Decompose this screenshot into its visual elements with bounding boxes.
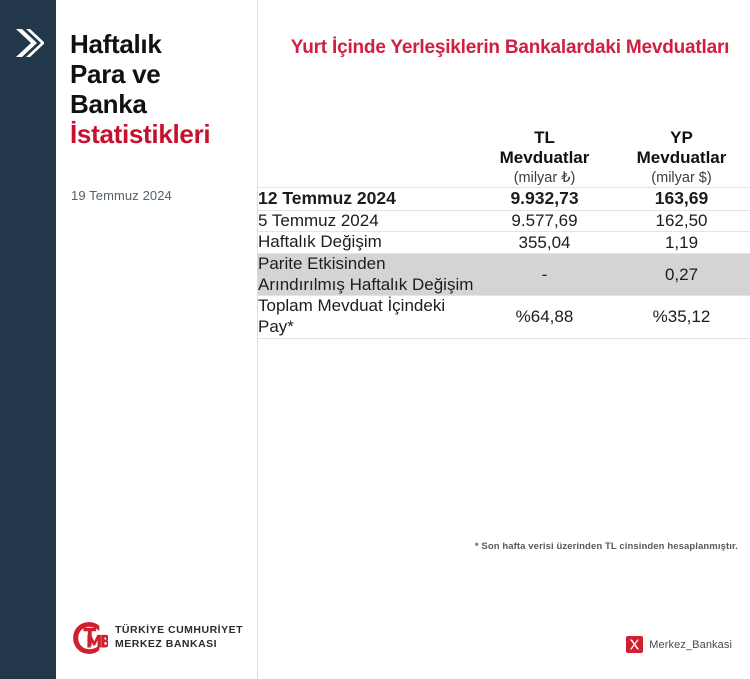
row-value-tl: - — [476, 253, 613, 295]
row-label: Haftalık Değişim — [258, 232, 476, 254]
x-twitter-icon[interactable] — [626, 636, 643, 653]
header-yp-unit: (milyar $) — [613, 170, 750, 187]
headline-line-3: Banka — [70, 90, 250, 120]
header-blank — [258, 128, 476, 188]
row-value-yp: 163,69 — [613, 188, 750, 210]
header-tl-unit: (milyar ₺) — [476, 170, 613, 187]
bank-logo-line-1: TÜRKİYE CUMHURİYET — [115, 624, 243, 638]
bank-logo: TÜRKİYE CUMHURİYET MERKEZ BANKASI — [70, 619, 243, 657]
tcmb-logo-icon — [70, 619, 108, 657]
row-value-tl: %64,88 — [476, 296, 613, 338]
deposits-table: TL Mevduatlar (milyar ₺) YP Mevduatlar (… — [258, 128, 750, 339]
social-handle-text: Merkez_Bankasi — [649, 639, 732, 651]
table-row: 12 Temmuz 2024 9.932,73 163,69 — [258, 188, 750, 210]
row-value-yp: 1,19 — [613, 232, 750, 254]
table-row: Haftalık Değişim 355,04 1,19 — [258, 232, 750, 254]
table-row: 5 Temmuz 2024 9.577,69 162,50 — [258, 210, 750, 232]
footnote: * Son hafta verisi üzerinden TL cinsinde… — [475, 541, 738, 552]
header-tl: TL Mevduatlar (milyar ₺) — [476, 128, 613, 188]
title-panel: Haftalık Para ve Banka İstatistikleri 19… — [56, 0, 258, 679]
header-tl-name: TL — [534, 128, 555, 147]
row-label: 12 Temmuz 2024 — [258, 188, 476, 210]
navy-rail — [0, 0, 56, 679]
header-yp-name: YP — [670, 128, 693, 147]
row-value-tl: 9.577,69 — [476, 210, 613, 232]
headline-line-1: Haftalık — [70, 30, 250, 60]
table-header-row: TL Mevduatlar (milyar ₺) YP Mevduatlar (… — [258, 128, 750, 188]
row-value-yp: 0,27 — [613, 253, 750, 295]
row-value-tl: 9.932,73 — [476, 188, 613, 210]
header-tl-name2: Mevduatlar — [500, 148, 590, 167]
headline-accent: İstatistikleri — [70, 120, 250, 150]
table-row: Toplam Mevduat İçindeki Pay* %64,88 %35,… — [258, 296, 750, 338]
bank-logo-line-2: MERKEZ BANKASI — [115, 638, 243, 652]
bank-logo-text: TÜRKİYE CUMHURİYET MERKEZ BANKASI — [115, 624, 243, 652]
row-label: 5 Temmuz 2024 — [258, 210, 476, 232]
page-title: Haftalık Para ve Banka İstatistikleri — [70, 30, 250, 150]
row-label: Parite Etkisinden Arındırılmış Haftalık … — [258, 253, 476, 295]
chevron-right-icon — [12, 26, 44, 60]
table-row: Parite Etkisinden Arındırılmış Haftalık … — [258, 253, 750, 295]
chart-title: Yurt İçinde Yerleşiklerin Bankalardaki M… — [280, 36, 740, 60]
infographic-page: Haftalık Para ve Banka İstatistikleri 19… — [0, 0, 750, 679]
row-value-yp: %35,12 — [613, 296, 750, 338]
issue-date: 19 Temmuz 2024 — [71, 188, 172, 203]
headline-line-2: Para ve — [70, 60, 250, 90]
header-yp: YP Mevduatlar (milyar $) — [613, 128, 750, 188]
header-yp-name2: Mevduatlar — [637, 148, 727, 167]
row-value-tl: 355,04 — [476, 232, 613, 254]
row-value-yp: 162,50 — [613, 210, 750, 232]
social-handle-block[interactable]: Merkez_Bankasi — [626, 636, 732, 653]
row-label: Toplam Mevduat İçindeki Pay* — [258, 296, 476, 338]
main-content: Yurt İçinde Yerleşiklerin Bankalardaki M… — [258, 0, 750, 679]
